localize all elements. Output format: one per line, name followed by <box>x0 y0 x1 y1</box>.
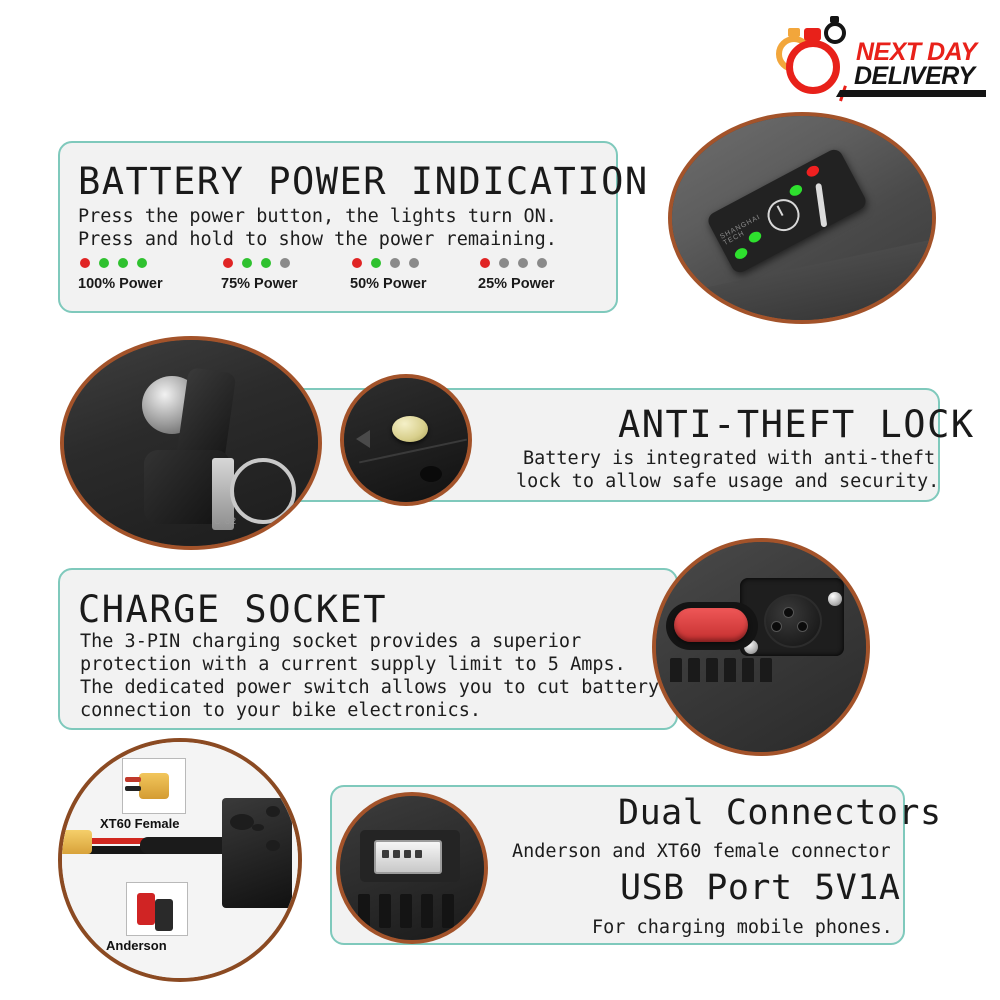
logo-underline <box>866 90 986 97</box>
fin <box>379 894 391 928</box>
fin <box>442 894 454 928</box>
indicator-led-green <box>733 246 749 261</box>
key-lock-image: C 82 <box>64 340 318 546</box>
housing-seam <box>359 439 467 464</box>
usb-port-image <box>340 796 484 940</box>
anti-theft-line-2: lock to allow safe usage and security. <box>516 470 939 493</box>
charge-socket-line-2: protection with a current supply limit t… <box>80 653 626 676</box>
led-indicator <box>518 258 528 268</box>
led-indicator <box>223 258 233 268</box>
photo-battery-indicator-panel: SHANGHAI TECH <box>668 112 936 324</box>
led-group-50: 50% Power <box>350 256 427 292</box>
next-day-delivery-logo: NEXT DAY DELIVERY <box>766 16 986 94</box>
key-stamp-text: C 82 <box>214 516 237 526</box>
three-pin-socket-icon <box>764 594 822 648</box>
screw-icon <box>828 592 842 606</box>
socket-pin <box>772 622 781 631</box>
dual-connectors-line-1: Anderson and XT60 female connector <box>512 840 891 863</box>
anti-theft-title: ANTI-THEFT LOCK <box>618 403 975 446</box>
fin <box>688 658 700 682</box>
led-indicator <box>80 258 90 268</box>
fin <box>706 658 718 682</box>
led-group-75: 75% Power <box>221 256 298 292</box>
led-indicator <box>371 258 381 268</box>
infographic-page: NEXT DAY DELIVERY BATTERY POWER INDICATI… <box>0 0 1000 1000</box>
xt60-thumbnail <box>122 758 186 814</box>
fin <box>670 658 682 682</box>
stopwatch-black-crown-icon <box>830 16 839 23</box>
led-indicator <box>118 258 128 268</box>
xt60-connector-icon <box>139 773 169 799</box>
led-row <box>478 256 555 270</box>
xt60-plug-end-icon <box>58 830 92 854</box>
usb-pin <box>415 850 422 858</box>
connector-block <box>222 798 292 908</box>
usb-port-icon <box>374 840 442 874</box>
indicator-led-green <box>788 183 804 198</box>
fin <box>358 894 370 928</box>
key-ring-icon <box>230 458 296 524</box>
photo-connectors: XT60 Female Anderson <box>58 738 302 982</box>
led-group-label: 100% Power <box>78 276 163 292</box>
anderson-red-connector-icon <box>137 893 155 925</box>
fin <box>760 658 772 682</box>
anti-theft-line-1: Battery is integrated with anti-theft <box>523 447 935 470</box>
photo-charge-socket <box>652 538 870 756</box>
arrow-marker-icon <box>356 430 370 448</box>
photo-lock-button <box>340 374 472 506</box>
stopwatch-orange-crown-icon <box>788 28 800 37</box>
battery-lower-shell <box>668 236 936 324</box>
charge-socket-line-4: connection to your bike electronics. <box>80 699 481 722</box>
connectors-image: XT60 Female Anderson <box>62 742 298 978</box>
led-indicator <box>390 258 400 268</box>
led-group-label: 25% Power <box>478 276 555 292</box>
photo-usb-port <box>336 792 488 944</box>
led-level-groups: 100% Power 75% Power 50% Power <box>78 256 598 304</box>
charge-socket-title: CHARGE SOCKET <box>78 588 387 631</box>
photo-key-lock: C 82 <box>60 336 322 550</box>
led-indicator <box>352 258 362 268</box>
lock-button-image <box>344 378 468 502</box>
led-group-label: 75% Power <box>221 276 298 292</box>
charge-socket-line-1: The 3-PIN charging socket provides a sup… <box>80 630 581 653</box>
led-indicator <box>280 258 290 268</box>
usb-cooling-fins <box>358 894 454 928</box>
led-indicator <box>137 258 147 268</box>
fin <box>742 658 754 682</box>
led-indicator <box>409 258 419 268</box>
led-group-25: 25% Power <box>478 256 555 292</box>
fin <box>421 894 433 928</box>
usb-port-title: USB Port 5V1A <box>620 868 900 908</box>
led-indicator <box>537 258 547 268</box>
led-group-label: 50% Power <box>350 276 427 292</box>
led-indicator <box>99 258 109 268</box>
stopwatch-red-crown-icon <box>804 28 821 41</box>
led-indicator <box>480 258 490 268</box>
brass-button-icon <box>392 416 428 442</box>
block-port <box>266 806 280 817</box>
led-indicator <box>261 258 271 268</box>
led-row <box>221 256 298 270</box>
charge-socket-image <box>656 542 866 752</box>
xt60-label: XT60 Female <box>100 816 180 831</box>
indicator-strip: SHANGHAI TECH <box>705 147 868 276</box>
housing-hole <box>420 466 442 482</box>
fin <box>400 894 412 928</box>
dual-connectors-title: Dual Connectors <box>618 793 942 833</box>
usb-pin <box>393 850 400 858</box>
led-indicator <box>242 258 252 268</box>
fin <box>724 658 736 682</box>
socket-pin <box>798 622 807 631</box>
stopwatch-red-icon <box>786 40 840 94</box>
power-switch-button <box>674 608 748 642</box>
battery-power-line-2: Press and hold to show the power remaini… <box>78 228 557 251</box>
battery-power-title: BATTERY POWER INDICATION <box>78 160 649 203</box>
power-button-icon <box>762 193 805 236</box>
usb-pin <box>382 850 389 858</box>
led-row <box>350 256 427 270</box>
led-group-100: 100% Power <box>78 256 163 292</box>
usb-pin <box>404 850 411 858</box>
socket-pin <box>784 608 793 617</box>
battery-housing-image: SHANGHAI TECH <box>672 116 932 320</box>
stopwatch-black-icon <box>824 22 846 44</box>
block-port <box>230 814 254 830</box>
led-row <box>78 256 163 270</box>
indicator-level-bar <box>815 183 827 227</box>
anderson-label: Anderson <box>106 938 167 953</box>
logo-line-2: DELIVERY <box>854 62 975 91</box>
battery-power-line-1: Press the power button, the lights turn … <box>78 205 557 228</box>
indicator-led-red <box>805 164 821 179</box>
anderson-thumbnail <box>126 882 188 936</box>
anderson-black-connector-icon <box>155 899 173 931</box>
led-indicator <box>499 258 509 268</box>
block-marker <box>252 824 264 831</box>
block-port <box>266 840 280 851</box>
usb-port-line-1: For charging mobile phones. <box>592 916 893 939</box>
cooling-fins <box>670 658 790 682</box>
charge-socket-line-3: The dedicated power switch allows you to… <box>80 676 659 699</box>
